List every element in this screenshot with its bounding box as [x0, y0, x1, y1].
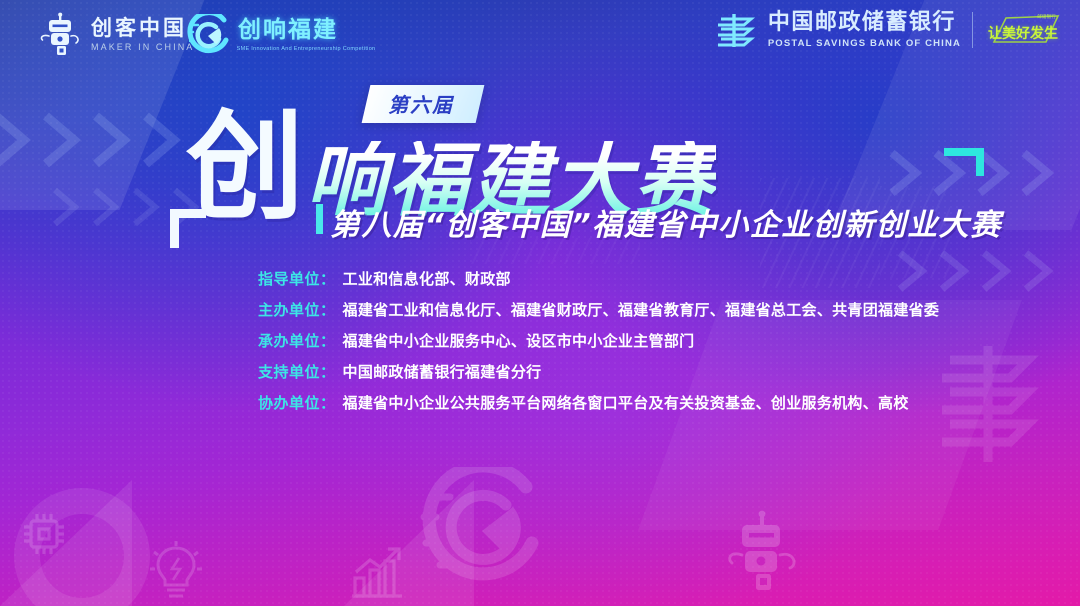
logo-cxfj-cn: 创响福建 [238, 19, 374, 42]
logo-postal-savings-bank: 中国邮政储蓄银行 POSTAL SAVINGS BANK OF CHINA 邮储… [713, 11, 1064, 49]
org-value: 福建省中小企业公共服务平台网络各窗口平台及有关投资基金、创业服务机构、高校 [343, 392, 909, 413]
list-item: 支持单位： 中国邮政储蓄银行福建省分行 [258, 361, 939, 382]
org-value: 工业和信息化部、财政部 [343, 268, 511, 289]
list-item: 指导单位： 工业和信息化部、财政部 [258, 268, 939, 289]
logo-divider [972, 12, 973, 48]
logo-cxfj-en: SME Innovation And Entrepreneurship Comp… [237, 47, 376, 52]
list-item: 主办单位： 福建省工业和信息化厅、福建省财政厅、福建省教育厅、福建省总工会、共青… [258, 299, 939, 320]
logo-maker-in-china: 创客中国 MAKER IN CHINA [38, 12, 194, 58]
org-label: 协办单位： [258, 392, 336, 413]
subtitle-tick [316, 204, 323, 234]
logo-psbc-en: POSTAL SAVINGS BANK OF CHINA [768, 39, 961, 49]
psbc-slogan-cn: 让美好发生 [988, 23, 1058, 43]
logo-maker-en: MAKER IN CHINA [91, 43, 194, 52]
org-value: 福建省中小企业服务中心、设区市中小企业主管部门 [343, 330, 695, 351]
organization-list: 指导单位： 工业和信息化部、财政部 主办单位： 福建省工业和信息化厅、福建省财政… [258, 268, 939, 413]
poster-canvas: 创客中国 MAKER IN CHINA 创响福建 SME Innovation … [0, 0, 1080, 606]
psbc-slogan: 邮储银行 让美好发生 [984, 12, 1064, 48]
list-item: 协办单位： 福建省中小企业公共服务平台网络各窗口平台及有关投资基金、创业服务机构… [258, 392, 939, 413]
list-item: 承办单位： 福建省中小企业服务中心、设区市中小企业主管部门 [258, 330, 939, 351]
maker-robot-icon [38, 12, 84, 58]
decor-triangle [548, 480, 693, 606]
org-label: 主办单位： [258, 299, 336, 320]
page-subtitle: 第八届“创客中国”福建省中小企业创新创业大赛 [330, 200, 1002, 244]
logo-maker-cn: 创客中国 [91, 18, 194, 39]
swirl-mark-icon [186, 14, 230, 58]
corner-bracket-icon [944, 148, 984, 176]
swirl-mark-icon [418, 467, 546, 600]
logo-psbc-cn: 中国邮政储蓄银行 [768, 12, 961, 34]
psbc-slogan-mini: 邮储银行 [1037, 14, 1056, 20]
header-logo-bar: 创客中国 MAKER IN CHINA 创响福建 SME Innovation … [0, 0, 1080, 72]
bar-chart-icon [348, 544, 406, 600]
bottom-decoration-band [0, 440, 1080, 606]
maker-robot-icon [724, 510, 802, 594]
org-label: 指导单位： [258, 268, 336, 289]
chip-icon [18, 508, 70, 560]
org-value: 福建省工业和信息化厅、福建省财政厅、福建省教育厅、福建省总工会、共青团福建省委 [343, 299, 940, 320]
psbc-mark-icon [713, 11, 757, 49]
org-label: 承办单位： [258, 330, 336, 351]
logo-chuangxiang-fujian: 创响福建 SME Innovation And Entrepreneurship… [186, 14, 374, 58]
org-label: 支持单位： [258, 361, 336, 382]
org-value: 中国邮政储蓄银行福建省分行 [343, 361, 542, 382]
lightbulb-icon [148, 540, 204, 602]
